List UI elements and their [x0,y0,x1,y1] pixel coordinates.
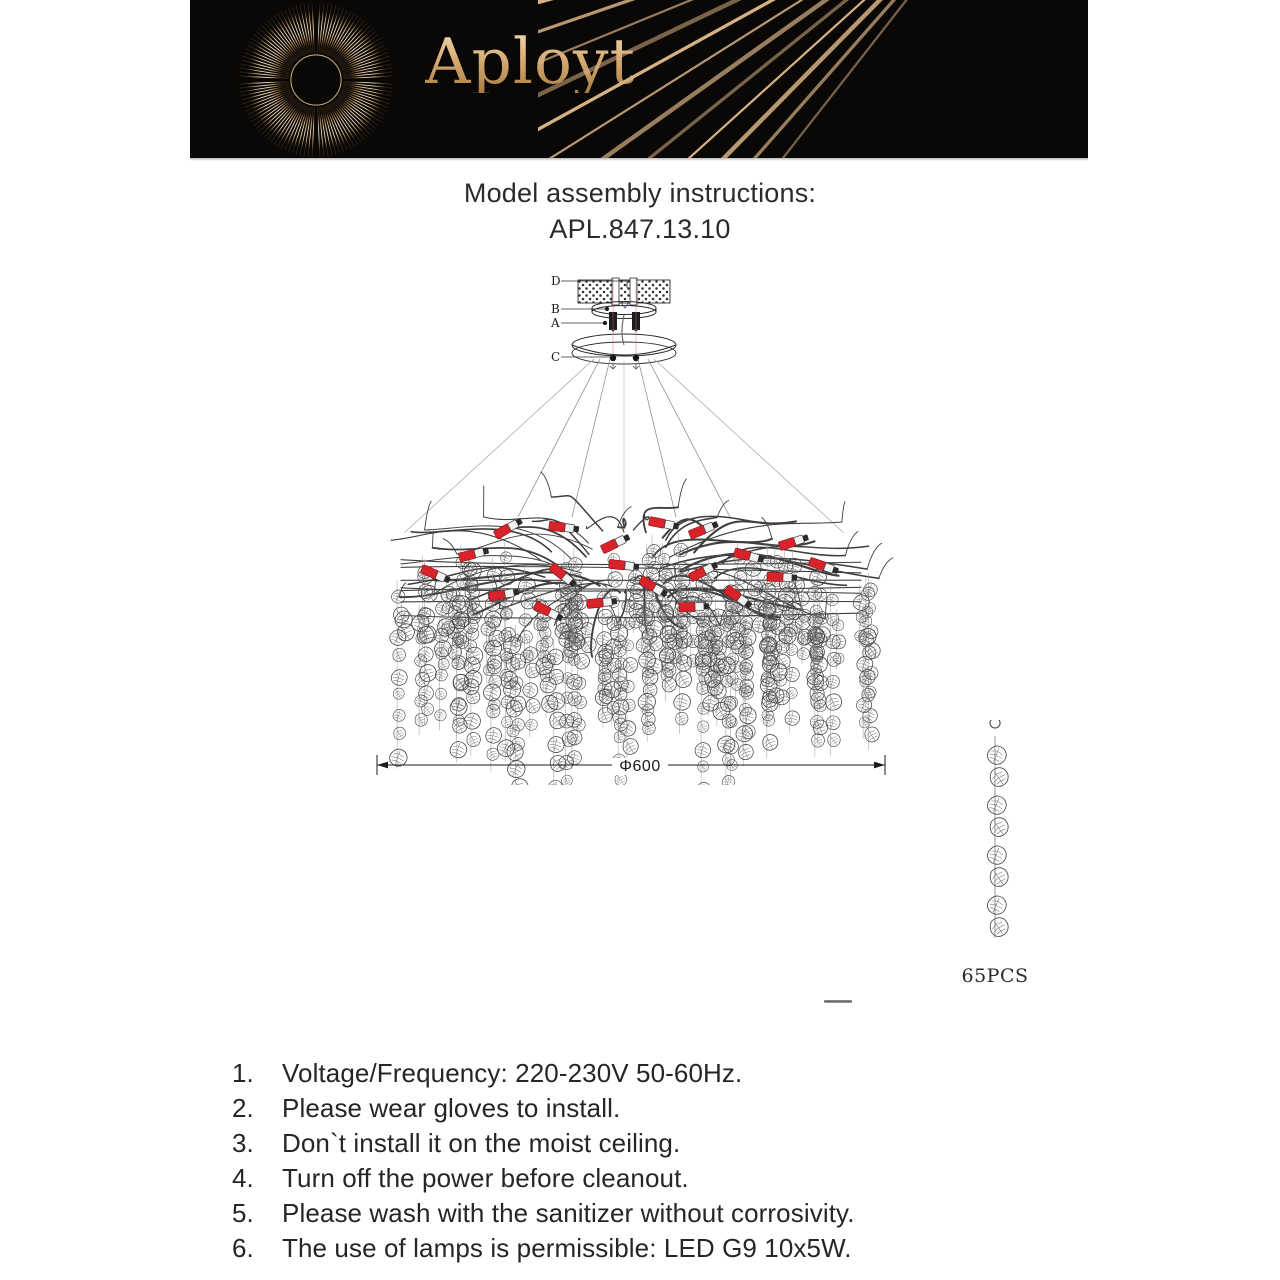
note-item: 2. Please wear gloves to install. [232,1093,1132,1128]
brand-banner: Aployt [190,0,1088,160]
note-item: 5. Please wash with the sanitizer withou… [232,1198,1132,1233]
note-text: Turn off the power before cleanout. [282,1163,689,1194]
crystal-leaf-strand-icon [930,720,1060,965]
note-number: 5. [232,1198,282,1229]
sunburst-eclipse-icon [237,1,395,159]
model-code: APL.847.13.10 [0,211,1280,247]
note-text: Voltage/Frequency: 220-230V 50-60Hz. [282,1058,742,1089]
note-number: 4. [232,1163,282,1194]
note-number: 3. [232,1128,282,1159]
note-item: 3. Don`t install it on the moist ceiling… [232,1128,1132,1163]
note-item: 6. The use of lamps is permissible: LED … [232,1233,1132,1268]
suspension-cables [404,359,844,533]
page-title: Model assembly instructions: APL.847.13.… [0,175,1280,247]
callout-a: A [550,316,607,330]
diameter-label: Φ600 [0,758,1280,776]
note-number: 6. [232,1233,282,1264]
radial-fan-rays-icon [538,0,1088,160]
note-item: 1. Voltage/Frequency: 220-230V 50-60Hz. [232,1058,1132,1093]
assembly-drawing: D B A C [0,255,1280,785]
stray-dash-mark [824,1000,852,1003]
note-text: Please wear gloves to install. [282,1093,620,1124]
note-number: 1. [232,1058,282,1089]
svg-text:B: B [551,302,560,316]
svg-text:D: D [551,274,561,288]
part-count-label: 65PCS [930,965,1060,987]
svg-text:A: A [550,316,560,330]
note-number: 2. [232,1093,282,1124]
note-text: The use of lamps is permissible: LED G9 … [282,1233,852,1264]
svg-text:C: C [551,350,560,364]
chandelier-body [387,472,893,785]
note-text: Don`t install it on the moist ceiling. [282,1128,680,1159]
instruction-notes: 1. Voltage/Frequency: 220-230V 50-60Hz. … [232,1058,1132,1268]
note-item: 4. Turn off the power before cleanout. [232,1163,1132,1198]
note-text: Please wash with the sanitizer without c… [282,1198,855,1229]
ceiling-mount-detail [572,278,676,369]
instruction-sheet: Aployt Model assembly instructions: APL.… [0,0,1280,1280]
title-heading: Model assembly instructions: [0,175,1280,211]
banner-edge-shadow [190,158,1088,161]
